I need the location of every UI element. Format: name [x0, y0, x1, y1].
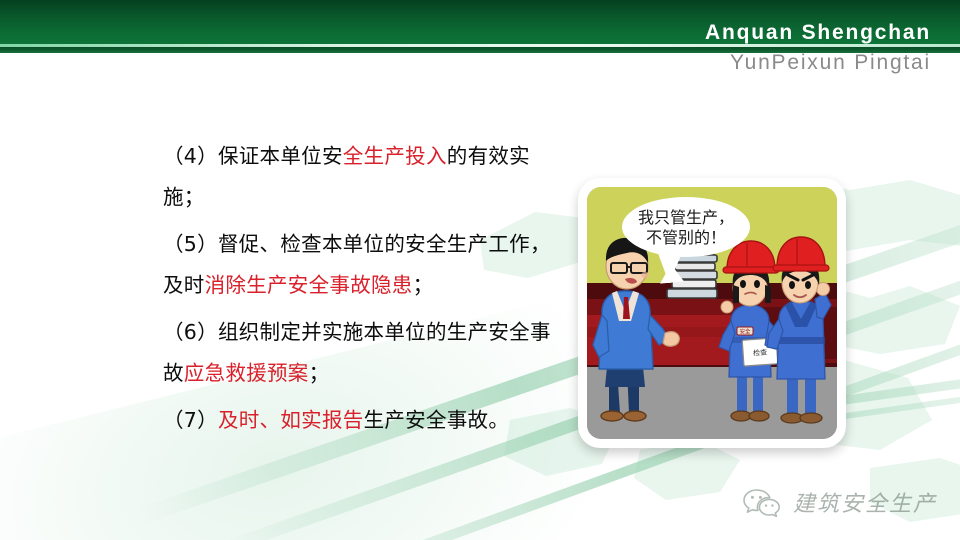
list-item-segment: ； [309, 361, 330, 385]
speech-bubble-body [622, 197, 750, 257]
list-item-segment-highlight: 应急救援预案 [184, 361, 309, 385]
list-item-segment: 生产安全事故。 [364, 408, 510, 432]
list-item-segment-highlight: 及时、如实报告 [218, 408, 364, 432]
wechat-icon [742, 487, 782, 517]
illustration-card: 安全 检查 [578, 178, 846, 448]
watermark: 建筑安全生产 [742, 486, 937, 518]
svg-text:检查: 检查 [753, 348, 768, 358]
list-item: （5）督促、检查本单位的安全生产工作，及时消除生产安全事故隐患； [163, 224, 571, 306]
header-subtitle: YunPeixun Pingtai [730, 52, 931, 74]
watermark-label: 建筑安全生产 [793, 486, 937, 518]
speech-bubble-line2: 不管别的！ [646, 228, 726, 247]
slide-body-text: （4）保证本单位安全生产投入的有效实施； （5）督促、检查本单位的安全生产工作，… [163, 136, 571, 441]
list-item-index: （4） [163, 144, 218, 168]
slide-root: Anquan Shengchan YunPeixun Pingtai （4）保证… [0, 0, 960, 540]
header-title: Anquan Shengchan [705, 22, 931, 44]
list-item: （7）及时、如实报告生产安全事故。 [163, 400, 571, 441]
list-item-index: （7） [163, 408, 218, 432]
illustration-frame: 安全 检查 [587, 187, 837, 439]
cartoon-illustration: 安全 检查 [587, 187, 837, 439]
svg-text:安全: 安全 [740, 328, 751, 336]
speech-bubble-line1: 我只管生产， [638, 208, 734, 227]
list-item-segment-highlight: 消除生产安全事故隐患 [205, 273, 413, 297]
list-item-segment: 保证本单位安 [218, 144, 343, 168]
list-item: （4）保证本单位安全生产投入的有效实施； [163, 136, 571, 218]
list-item-segment: ； [413, 273, 434, 297]
list-item-segment-highlight: 全生产投入 [343, 144, 447, 168]
list-item-index: （5） [163, 232, 218, 256]
list-item: （6）组织制定并实施本单位的生产安全事故应急救援预案； [163, 312, 571, 394]
list-item-index: （6） [163, 320, 218, 344]
